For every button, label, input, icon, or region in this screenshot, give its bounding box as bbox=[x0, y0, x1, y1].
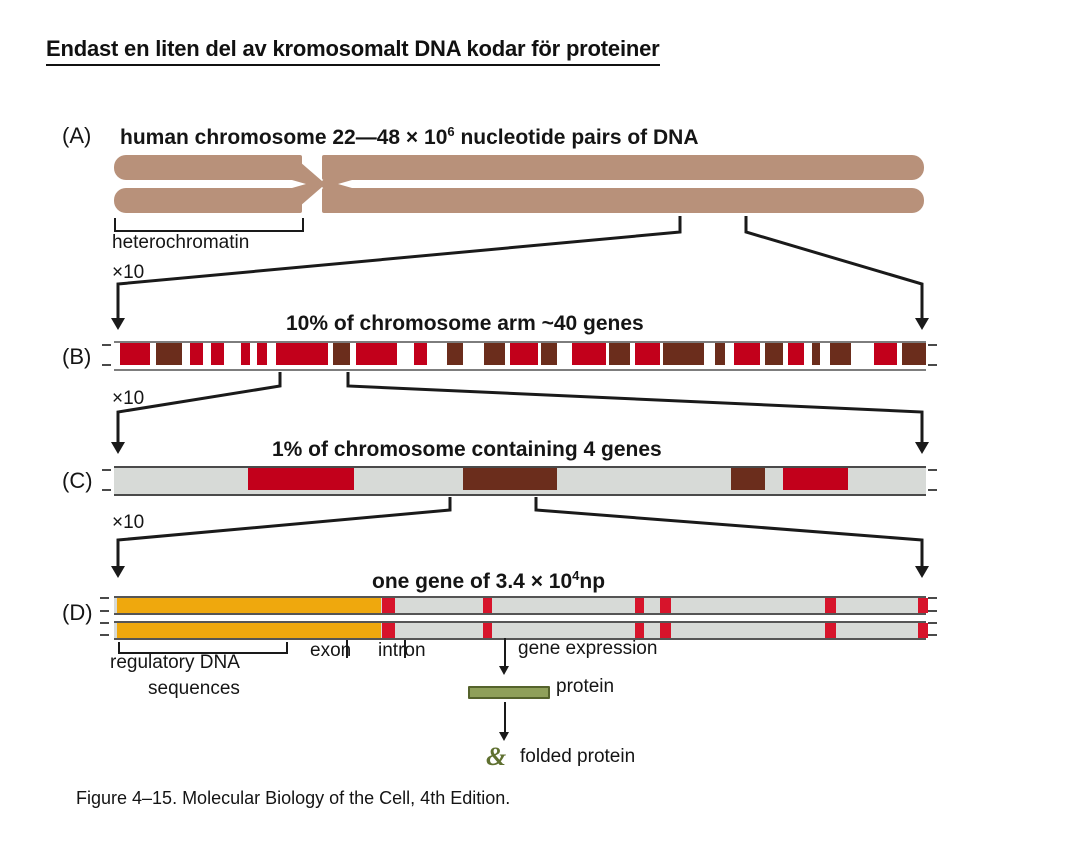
gene-expression-arrow-head bbox=[499, 666, 509, 675]
exon-segment bbox=[660, 623, 671, 638]
gene-right-tick-3 bbox=[928, 622, 937, 624]
gene-left-tick-4 bbox=[100, 634, 109, 636]
exon-segment bbox=[382, 623, 395, 638]
regulatory-dna-label-line1: regulatory DNA bbox=[110, 652, 240, 674]
heterochromatin-bracket bbox=[114, 218, 304, 232]
chromosome-band bbox=[156, 343, 182, 365]
chromosome-band bbox=[902, 343, 926, 365]
gene-right-tick-1 bbox=[928, 597, 937, 599]
dna-strand-top bbox=[114, 596, 926, 615]
chromosome-band bbox=[276, 343, 328, 365]
leader-arrow-b-right bbox=[915, 318, 929, 330]
chromosome-band bbox=[663, 343, 704, 365]
chromosome-band bbox=[734, 343, 760, 365]
chromosome-band bbox=[874, 343, 897, 365]
panel-a-heading-tail: nucleotide pairs of DNA bbox=[455, 126, 699, 149]
chromatid-bottom-short-arm bbox=[114, 188, 302, 213]
chromosome-band bbox=[356, 343, 397, 365]
panel-c-magnification: ×10 bbox=[112, 512, 144, 534]
slide-canvas: Endast en liten del av kromosomalt DNA k… bbox=[0, 0, 1072, 844]
gene-expression-label: gene expression bbox=[518, 638, 657, 660]
panel-b-heading: 10% of chromosome arm ~40 genes bbox=[286, 312, 644, 336]
gene-left-tick-3 bbox=[100, 622, 109, 624]
region-bar-right-tick-top bbox=[928, 469, 937, 471]
figure-caption: Figure 4–15. Molecular Biology of the Ce… bbox=[76, 788, 510, 809]
panel-d-heading-main: one gene of 3.4 × 10 bbox=[372, 570, 572, 593]
gene-left-tick-1 bbox=[100, 597, 109, 599]
gene-block bbox=[783, 468, 848, 490]
exon-segment bbox=[660, 598, 671, 613]
panel-a-magnification: ×10 bbox=[112, 262, 144, 284]
chromosome-band bbox=[211, 343, 223, 365]
intron-label: intron bbox=[378, 640, 426, 662]
gene-block bbox=[248, 468, 354, 490]
chromosome-band bbox=[635, 343, 659, 365]
gene-double-strand bbox=[114, 596, 926, 638]
chromosome-band bbox=[190, 343, 203, 365]
chromosome-band bbox=[830, 343, 851, 365]
band-bar-right-tick-bottom bbox=[928, 364, 937, 366]
chromosome-region-bar bbox=[114, 466, 926, 496]
protein-label: protein bbox=[556, 676, 614, 698]
panel-a-heading-exponent: 6 bbox=[447, 124, 454, 139]
folding-arrow-head bbox=[499, 732, 509, 741]
panel-a-letter: (A) bbox=[62, 123, 91, 149]
chromosome-band bbox=[257, 343, 267, 365]
chromosome-band bbox=[333, 343, 350, 365]
gene-right-tick-4 bbox=[928, 634, 937, 636]
chromatid-bottom-long-arm bbox=[322, 188, 924, 213]
chromosome-arm-band-bar bbox=[114, 341, 926, 371]
exon-label: exon bbox=[310, 640, 351, 662]
regulatory-dna-segment bbox=[117, 623, 381, 638]
chromosome-band bbox=[812, 343, 820, 365]
panel-a-heading-main: human chromosome 22—48 × 10 bbox=[120, 126, 447, 149]
chromatid-top bbox=[114, 155, 924, 180]
regulatory-dna-label-line2: sequences bbox=[148, 678, 240, 700]
leader-arrow-d-left bbox=[111, 566, 125, 578]
leader-arrow-b-left bbox=[111, 318, 125, 330]
exon-segment bbox=[918, 623, 928, 638]
chromosome-band bbox=[414, 343, 427, 365]
chromatid-bottom bbox=[114, 188, 924, 213]
chromosome-22-figure bbox=[114, 155, 924, 213]
panel-a-heading: human chromosome 22—48 × 106 nucleotide … bbox=[120, 124, 699, 150]
chromosome-band bbox=[788, 343, 804, 365]
exon-segment bbox=[825, 623, 836, 638]
chromatid-top-short-arm bbox=[114, 155, 302, 180]
band-bar-right-tick-top bbox=[928, 344, 937, 346]
regulatory-dna-segment bbox=[117, 598, 381, 613]
protein-bar-icon bbox=[468, 686, 550, 699]
chromosome-band bbox=[120, 343, 149, 365]
region-bar-left-tick-top bbox=[102, 469, 111, 471]
chromosome-band bbox=[765, 343, 783, 365]
folding-arrow-line bbox=[504, 702, 506, 736]
gene-left-tick-2 bbox=[100, 610, 109, 612]
gene-block bbox=[463, 468, 556, 490]
page-title: Endast en liten del av kromosomalt DNA k… bbox=[46, 36, 660, 66]
leader-arrow-c-right bbox=[915, 442, 929, 454]
chromosome-band bbox=[541, 343, 557, 365]
exon-segment bbox=[825, 598, 836, 613]
gene-right-tick-2 bbox=[928, 610, 937, 612]
panel-b-letter: (B) bbox=[62, 344, 91, 370]
centromere-icon bbox=[292, 155, 352, 213]
folded-protein-label: folded protein bbox=[520, 746, 635, 768]
chromosome-band bbox=[510, 343, 538, 365]
exon-segment bbox=[635, 598, 644, 613]
panel-d-heading: one gene of 3.4 × 104np bbox=[372, 568, 605, 594]
region-bar-left-tick-bottom bbox=[102, 489, 111, 491]
chromosome-band bbox=[609, 343, 630, 365]
chromosome-band bbox=[715, 343, 726, 365]
panel-b-magnification: ×10 bbox=[112, 388, 144, 410]
band-bar-left-tick-bottom bbox=[102, 364, 111, 366]
chromosome-band bbox=[484, 343, 505, 365]
heterochromatin-label: heterochromatin bbox=[112, 232, 249, 254]
chromatid-top-long-arm bbox=[322, 155, 924, 180]
exon-segment bbox=[483, 623, 492, 638]
exon-segment bbox=[382, 598, 395, 613]
folded-protein-icon: & bbox=[486, 742, 506, 772]
panel-d-heading-tail: np bbox=[579, 570, 605, 593]
exon-segment bbox=[918, 598, 928, 613]
panel-c-letter: (C) bbox=[62, 468, 93, 494]
chromosome-band bbox=[572, 343, 606, 365]
leader-arrow-c-left bbox=[111, 442, 125, 454]
panel-d-letter: (D) bbox=[62, 600, 93, 626]
leader-arrow-d-right bbox=[915, 566, 929, 578]
chromosome-band bbox=[241, 343, 250, 365]
band-bar-left-tick-top bbox=[102, 344, 111, 346]
region-bar-right-tick-bottom bbox=[928, 489, 937, 491]
exon-segment bbox=[483, 598, 492, 613]
exon-segment bbox=[635, 623, 644, 638]
panel-c-heading: 1% of chromosome containing 4 genes bbox=[272, 438, 662, 462]
gene-block bbox=[731, 468, 765, 490]
chromosome-band bbox=[447, 343, 463, 365]
